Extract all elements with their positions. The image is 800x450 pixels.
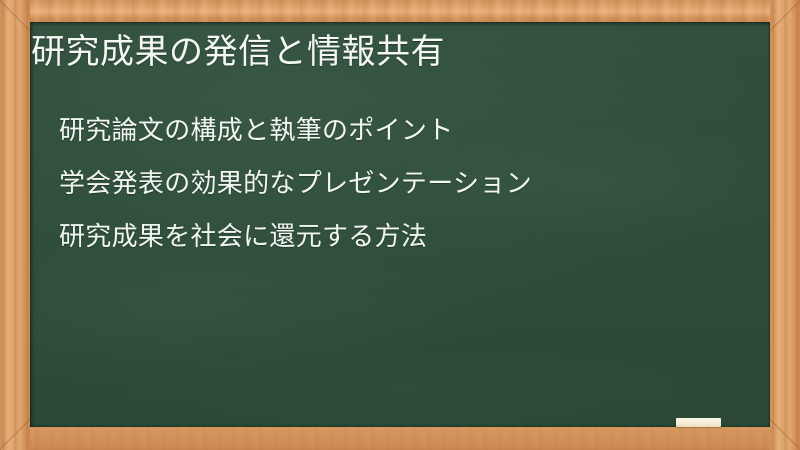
slide-content: 研究成果の発信と情報共有 研究論文の構成と執筆のポイント 学会発表の効果的なプレ… — [30, 22, 770, 427]
frame-rail-left — [0, 0, 30, 450]
list-item: 研究成果を社会に還元する方法 — [59, 210, 532, 263]
chalkboard-slide: 研究成果の発信と情報共有 研究論文の構成と執筆のポイント 学会発表の効果的なプレ… — [0, 0, 800, 450]
chalkboard-surface: 研究成果の発信と情報共有 研究論文の構成と執筆のポイント 学会発表の効果的なプレ… — [30, 22, 770, 427]
chalk-stick-icon — [676, 418, 721, 427]
frame-rail-right — [770, 0, 800, 450]
page-title: 研究成果の発信と情報共有 — [31, 30, 445, 74]
frame-rail-top — [0, 0, 800, 22]
list-item: 研究論文の構成と執筆のポイント — [59, 104, 532, 157]
list-item: 学会発表の効果的なプレゼンテーション — [59, 157, 532, 210]
frame-rail-bottom — [0, 427, 800, 450]
bullet-list: 研究論文の構成と執筆のポイント 学会発表の効果的なプレゼンテーション 研究成果を… — [59, 104, 532, 263]
